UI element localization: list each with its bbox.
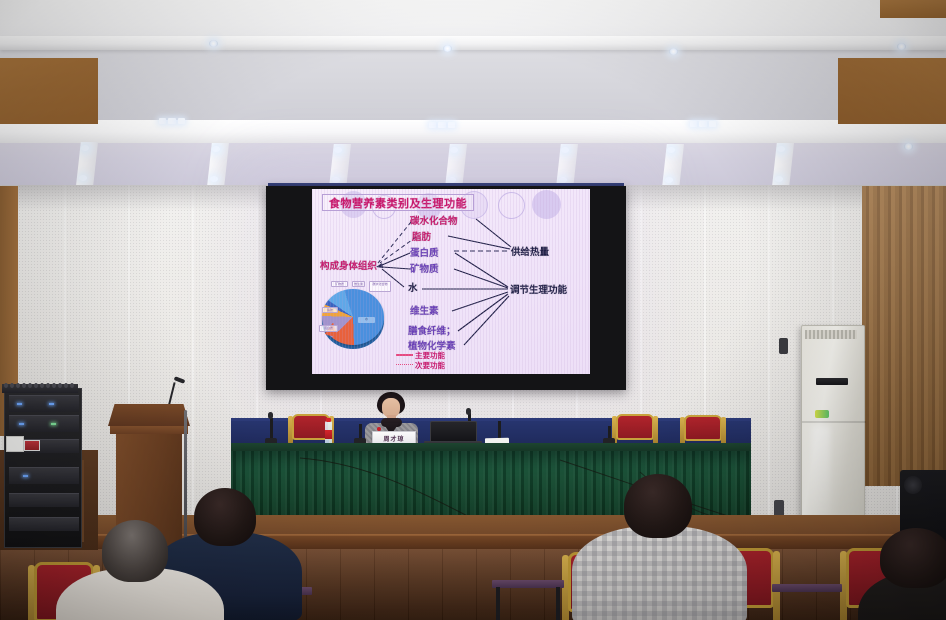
- water-bottle-cap: [326, 418, 331, 422]
- slide-node-regulate-physiology: 调节生理功能: [510, 282, 567, 296]
- notice-card: [6, 436, 24, 452]
- legend-line-solid-icon: [396, 354, 413, 356]
- slide-node-dietary-fiber: 膳食纤维；: [408, 323, 456, 337]
- audience-head: [880, 528, 946, 588]
- rack-unit[interactable]: [9, 493, 79, 507]
- ceiling-downlight-icon: [904, 143, 913, 150]
- status-led-icon: [49, 403, 54, 405]
- lectern-top: [108, 404, 190, 426]
- pie-slice-label-carbohydrate: 碳水化合物: [369, 281, 391, 292]
- red-warning-sign: [24, 440, 40, 451]
- status-led-icon: [19, 423, 24, 425]
- status-led-icon: [51, 423, 56, 425]
- ceiling-beam-upper: [0, 36, 946, 50]
- ceiling-beam-lower: [0, 120, 946, 144]
- ceiling-downlight-icon: [669, 48, 678, 55]
- ceiling-wood-panel-left: [0, 58, 98, 124]
- slide-pie-chart: 水 蛋白质 脂肪 矿物质 维生素 碳水化合物: [318, 281, 392, 353]
- audience-desk: [772, 584, 842, 592]
- slide-node-water: 水: [408, 280, 418, 294]
- slide-node-carbohydrate: 碳水化合物: [410, 213, 458, 227]
- projected-slide: 食物营养素类别及生理功能 碳水化合物 脂肪 蛋白质 矿物质 水 维生素 膳食纤维…: [312, 189, 590, 374]
- air-conditioner-grille: [805, 330, 857, 339]
- lecture-hall-photo: 食物营养素类别及生理功能 碳水化合物 脂肪 蛋白质 矿物质 水 维生素 膳食纤维…: [0, 0, 946, 620]
- ceiling-downlight-icon: [443, 45, 452, 52]
- ceiling-soffit: [0, 50, 946, 122]
- ceiling-strip-light-icon: [690, 121, 716, 127]
- air-conditioner-unit[interactable]: [801, 325, 865, 538]
- slide-node-protein: 蛋白质: [410, 245, 439, 259]
- speaker-cone-icon: [904, 476, 922, 494]
- slide-node-build-body-tissue: 构成身体组织: [320, 258, 377, 272]
- ceiling-wood-panel-right: [838, 58, 946, 124]
- air-conditioner-display: [816, 378, 848, 385]
- audience-head: [624, 474, 692, 538]
- pie-slice-label-mineral: 矿物质: [331, 281, 348, 287]
- ceiling-downlight-icon: [209, 40, 218, 47]
- microphone-head-icon: [268, 412, 273, 419]
- status-led-icon: [23, 475, 28, 477]
- desk-leg: [556, 587, 560, 620]
- legend-line-dotted-icon: [396, 364, 413, 365]
- mixer-knobs[interactable]: [4, 383, 76, 389]
- status-led-icon: [17, 403, 22, 405]
- slide-node-fat: 脂肪: [412, 229, 431, 243]
- pie-slice-label-water: 水: [358, 317, 375, 323]
- pie-slice-label-fat: 脂肪: [322, 307, 338, 313]
- wall-mount-bracket: [779, 338, 788, 354]
- slide-node-mineral: 矿物质: [410, 261, 439, 275]
- audience-shoulders: [572, 526, 747, 620]
- slide-node-vitamin: 维生素: [410, 303, 439, 317]
- ceiling-downlight-icon: [897, 43, 906, 50]
- ceiling-strip-light-icon: [159, 118, 185, 124]
- slide-title: 食物营养素类别及生理功能: [329, 195, 467, 211]
- legend-label-secondary-function: 次要功能: [415, 360, 445, 371]
- rack-unit[interactable]: [9, 517, 79, 531]
- pie-slice-label-protein: 蛋白质: [319, 325, 338, 332]
- air-conditioner-highlight: [812, 426, 830, 526]
- audience-head: [194, 488, 256, 546]
- ceiling-wood-panel-corner: [880, 0, 946, 18]
- microphone-head-icon: [466, 408, 471, 415]
- slide-node-supply-heat: 供给热量: [511, 244, 549, 258]
- lectern-cable: [184, 410, 187, 538]
- slide-title-box: 食物营养素类别及生理功能: [322, 194, 474, 211]
- audience-desk: [492, 580, 564, 588]
- ceiling-strip-light-icon: [429, 122, 455, 128]
- audience-head: [102, 520, 168, 582]
- desk-leg: [496, 587, 500, 620]
- rack-unit[interactable]: [9, 467, 79, 484]
- rack-unit[interactable]: [9, 415, 79, 432]
- av-equipment-rack: [4, 388, 82, 548]
- pie-slice-label-vitamin: 维生素: [352, 281, 365, 287]
- air-conditioner-seam: [802, 421, 866, 423]
- air-conditioner-sticker: [815, 410, 829, 418]
- rack-unit[interactable]: [9, 395, 79, 412]
